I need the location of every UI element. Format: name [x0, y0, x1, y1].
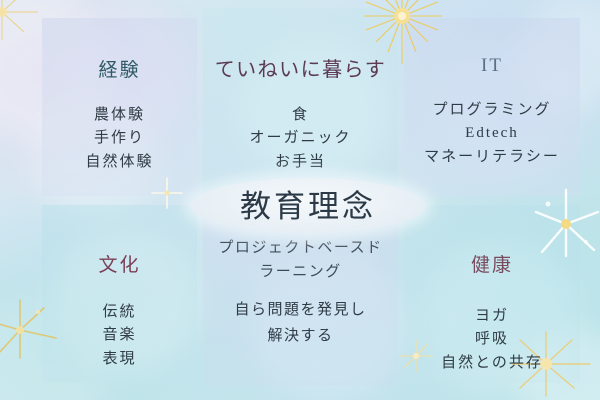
center-badge-education-philosophy: 教育理念: [190, 178, 426, 234]
panel-bunka-items: 伝統 音楽 表現: [102, 301, 136, 371]
panel-kenko: 健康 ヨガ 呼吸 自然との共存: [404, 205, 580, 383]
list-item: マネーリテラシー: [424, 146, 560, 169]
panel-teinei: ていねいに暮らす 食 オーガニック お手当: [203, 8, 398, 196]
list-item: 自然との共存: [441, 352, 543, 375]
panel-teinei-heading: ていねいに暮らす: [215, 53, 387, 82]
pbl-subtitle-line: ラーニング: [203, 260, 398, 284]
pbl-description-line: 自ら問題を発見し: [203, 298, 398, 324]
pbl-description-line: 解決する: [203, 324, 398, 350]
center-badge-label: 教育理念: [240, 191, 376, 222]
list-item: プログラミング: [424, 99, 560, 122]
panel-kenko-heading: 健康: [471, 250, 513, 277]
panel-keiken-heading: 経験: [98, 55, 140, 82]
list-item: オーガニック: [249, 127, 351, 150]
list-item: 音楽: [102, 324, 136, 347]
list-item: 自然体験: [85, 151, 153, 174]
list-item: Edtech: [424, 122, 560, 145]
list-item: 呼吸: [441, 328, 543, 351]
panel-bunka: 文化 伝統 音楽 表現: [42, 205, 197, 383]
list-item: 表現: [102, 348, 136, 371]
pbl-subtitle-line: プロジェクトベースド: [203, 236, 398, 260]
education-philosophy-infographic: 経験 農体験 手作り 自然体験 ていねいに暮らす 食 オーガニック お手当 IT…: [0, 0, 600, 400]
list-item: 食: [249, 104, 351, 127]
panel-project-based-learning: プロジェクトベースド ラーニング 自ら問題を発見し 解決する: [203, 236, 398, 386]
list-item: ヨガ: [441, 305, 543, 328]
list-item: 手作り: [85, 127, 153, 150]
panel-teinei-items: 食 オーガニック お手当: [249, 104, 351, 174]
panel-it: IT プログラミング Edtech マネーリテラシー: [404, 18, 580, 196]
pbl-subtitle: プロジェクトベースド ラーニング: [203, 236, 398, 284]
pbl-description: 自ら問題を発見し 解決する: [203, 298, 398, 349]
list-item: 農体験: [85, 104, 153, 127]
panel-kenko-items: ヨガ 呼吸 自然との共存: [441, 305, 543, 375]
panel-it-heading: IT: [481, 55, 503, 77]
panel-bunka-heading: 文化: [98, 250, 140, 277]
panel-keiken-items: 農体験 手作り 自然体験: [85, 104, 153, 174]
list-item: お手当: [249, 151, 351, 174]
panel-keiken: 経験 農体験 手作り 自然体験: [42, 18, 197, 196]
list-item: 伝統: [102, 301, 136, 324]
panel-it-items: プログラミング Edtech マネーリテラシー: [424, 99, 560, 169]
